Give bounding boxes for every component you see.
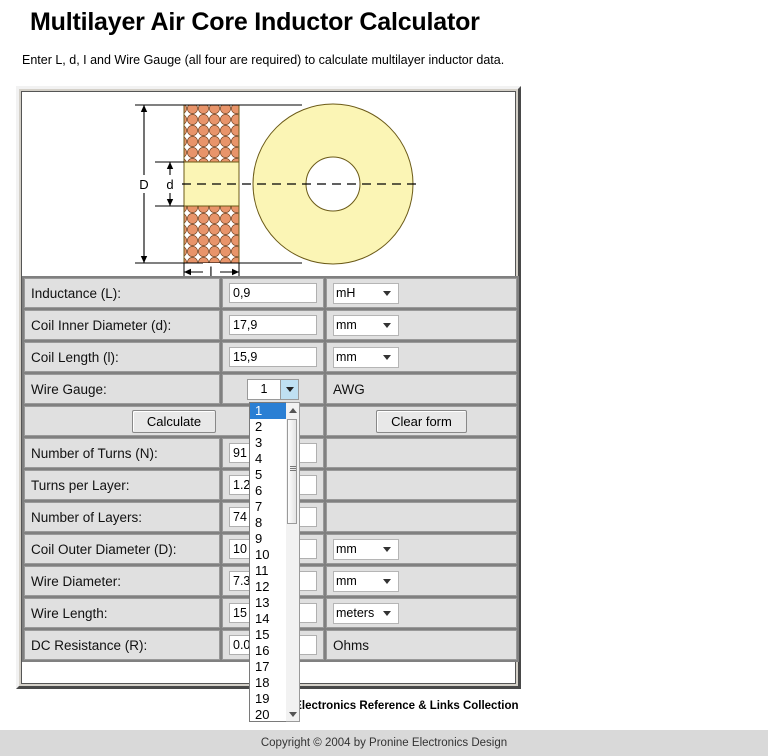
cell-wire-length-unit: meters bbox=[326, 598, 517, 628]
coil-length-unit-select[interactable]: mm bbox=[333, 347, 399, 368]
table-row-inner-diameter: Coil Inner Diameter (d): mm bbox=[24, 310, 517, 340]
label-inductance: Inductance (L): bbox=[24, 278, 220, 308]
coil-length-unit-wrap: mm bbox=[333, 347, 399, 368]
inductance-unit-wrap: mH bbox=[333, 283, 399, 304]
chevron-up-icon bbox=[289, 408, 297, 413]
cell-wire-gauge-unit: AWG bbox=[326, 374, 517, 404]
clear-form-button[interactable]: Clear form bbox=[376, 410, 467, 433]
cell-coil-length-unit: mm bbox=[326, 342, 517, 372]
calculate-button[interactable]: Calculate bbox=[132, 410, 216, 433]
label-turns-per-layer: Turns per Layer: bbox=[24, 470, 220, 500]
table-row-inductance: Inductance (L): mH bbox=[24, 278, 517, 308]
scroll-up-button[interactable] bbox=[286, 403, 299, 417]
wire-gauge-select[interactable]: 1 bbox=[247, 379, 299, 400]
page-title: Multilayer Air Core Inductor Calculator bbox=[0, 0, 768, 37]
label-dc-resistance: DC Resistance (R): bbox=[24, 630, 220, 660]
outer-diameter-unit-wrap: mm bbox=[333, 539, 399, 560]
cell-inner-diameter-value bbox=[222, 310, 324, 340]
cell-coil-length-value bbox=[222, 342, 324, 372]
inductance-input[interactable] bbox=[229, 283, 317, 303]
page-root: Multilayer Air Core Inductor Calculator … bbox=[0, 0, 768, 756]
cell-outer-diameter-unit: mm bbox=[326, 534, 517, 564]
wire-gauge-dropdown-scrollbar[interactable] bbox=[286, 402, 300, 722]
inductor-diagram-svg: D d l bbox=[22, 92, 525, 276]
label-wire-gauge: Wire Gauge: bbox=[24, 374, 220, 404]
label-inner-diameter: Coil Inner Diameter (d): bbox=[24, 310, 220, 340]
label-number-of-turns: Number of Turns (N): bbox=[24, 438, 220, 468]
wire-length-unit-select[interactable]: meters bbox=[333, 603, 399, 624]
inductance-unit-select[interactable]: mH bbox=[333, 283, 399, 304]
cell-wire-gauge-value: 1 bbox=[222, 374, 324, 404]
cell-inductance-unit: mH bbox=[326, 278, 517, 308]
inner-diameter-unit-select[interactable]: mm bbox=[333, 315, 399, 336]
wire-gauge-dropdown-button[interactable] bbox=[280, 380, 298, 399]
cell-number-of-turns-unit bbox=[326, 438, 517, 468]
cell-wire-diameter-unit: mm bbox=[326, 566, 517, 596]
scroll-down-button[interactable] bbox=[286, 707, 299, 721]
inner-diameter-input[interactable] bbox=[229, 315, 317, 335]
chevron-down-icon bbox=[286, 387, 294, 392]
diagram-label-d: d bbox=[166, 177, 173, 192]
cell-inductance-value bbox=[222, 278, 324, 308]
table-row-wire-gauge: Wire Gauge: 1 AWG bbox=[24, 374, 517, 404]
wire-length-unit-wrap: meters bbox=[333, 603, 399, 624]
diagram-label-l: l bbox=[210, 264, 213, 276]
cell-turns-per-layer-unit bbox=[326, 470, 517, 500]
outer-diameter-unit-select[interactable]: mm bbox=[333, 539, 399, 560]
page-subtitle: Enter L, d, I and Wire Gauge (all four a… bbox=[0, 37, 768, 67]
table-row-coil-length: Coil Length (l): mm bbox=[24, 342, 517, 372]
wire-gauge-selected-value: 1 bbox=[248, 380, 280, 399]
inductor-diagram: D d l bbox=[22, 92, 515, 276]
label-outer-diameter: Coil Outer Diameter (D): bbox=[24, 534, 220, 564]
scrollbar-thumb[interactable] bbox=[287, 419, 297, 524]
inner-diameter-unit-wrap: mm bbox=[333, 315, 399, 336]
chevron-down-icon bbox=[289, 712, 297, 717]
label-coil-length: Coil Length (l): bbox=[24, 342, 220, 372]
wire-diameter-unit-wrap: mm bbox=[333, 571, 399, 592]
diagram-label-D: D bbox=[139, 177, 148, 192]
back-link[interactable]: Back to Electronics Reference & Links Co… bbox=[0, 700, 768, 712]
wire-diameter-unit-select[interactable]: mm bbox=[333, 571, 399, 592]
cell-clear: Clear form bbox=[326, 406, 517, 436]
cell-inner-diameter-unit: mm bbox=[326, 310, 517, 340]
label-number-of-layers: Number of Layers: bbox=[24, 502, 220, 532]
cell-dc-resistance-unit: Ohms bbox=[326, 630, 517, 660]
copyright-notice: Copyright © 2004 by Pronine Electronics … bbox=[0, 730, 768, 756]
grip-icon bbox=[290, 466, 296, 471]
label-wire-length: Wire Length: bbox=[24, 598, 220, 628]
coil-length-input[interactable] bbox=[229, 347, 317, 367]
label-wire-diameter: Wire Diameter: bbox=[24, 566, 220, 596]
cell-number-of-layers-unit bbox=[326, 502, 517, 532]
